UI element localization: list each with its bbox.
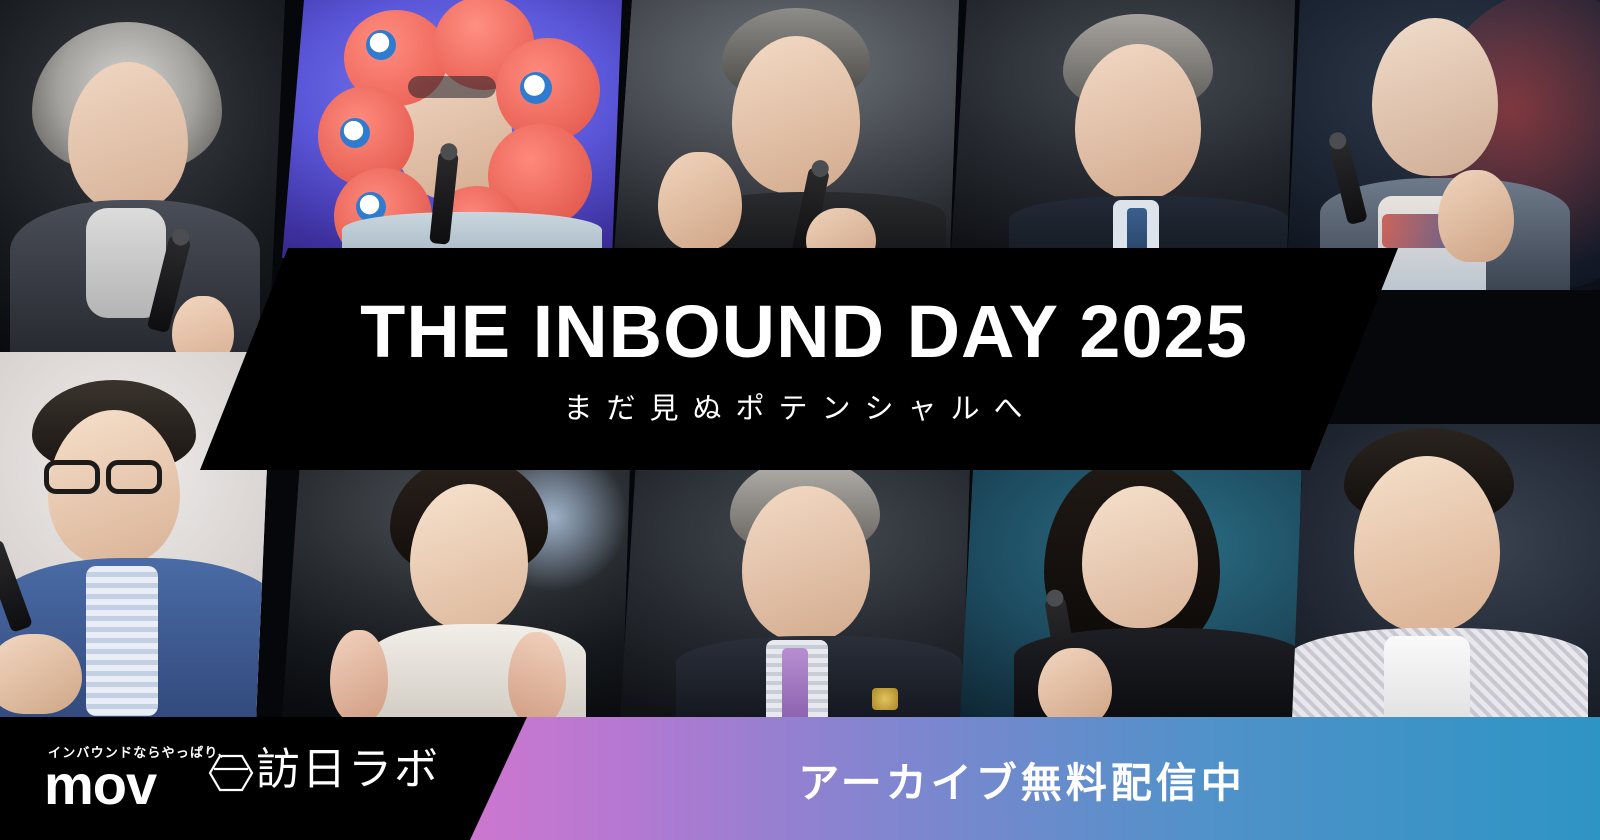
- photo-tile-speaker-bald-striped-shirt: [1286, 0, 1600, 290]
- title-banner: THE INBOUND DAY 2025 まだ見ぬポテンシャルへ: [180, 248, 1440, 470]
- promo-banner: THE INBOUND DAY 2025 まだ見ぬポテンシャルへ インバウンドな…: [0, 0, 1600, 840]
- photo-tile-speaker-purple-tie-suit: [620, 462, 972, 720]
- photo-tile-speaker-woman-black-jacket-mic: [960, 452, 1304, 720]
- photo-tile-speaker-grey-hair-mic: [0, 0, 295, 360]
- photo-tile-speaker-woman-white-jacket: [282, 462, 632, 720]
- photo-tile-speaker-suit-tie: [951, 0, 1299, 256]
- photo-tile-speaker-gesturing-mic: [614, 0, 964, 255]
- archive-cta-label: アーカイブ無料配信中: [712, 717, 1332, 840]
- event-subtitle: まだ見ぬポテンシャルへ: [563, 395, 1036, 424]
- photo-tile-speaker-red-plush-headpiece: [282, 0, 627, 258]
- hounichi-labo-logo[interactable]: 訪日ラボ: [256, 748, 440, 792]
- photo-tile-speaker-check-blazer: [1292, 424, 1600, 720]
- mov-logo[interactable]: mov: [44, 757, 156, 813]
- event-title: THE INBOUND DAY 2025: [360, 295, 1248, 369]
- hexagon-logo-icon: [208, 750, 254, 801]
